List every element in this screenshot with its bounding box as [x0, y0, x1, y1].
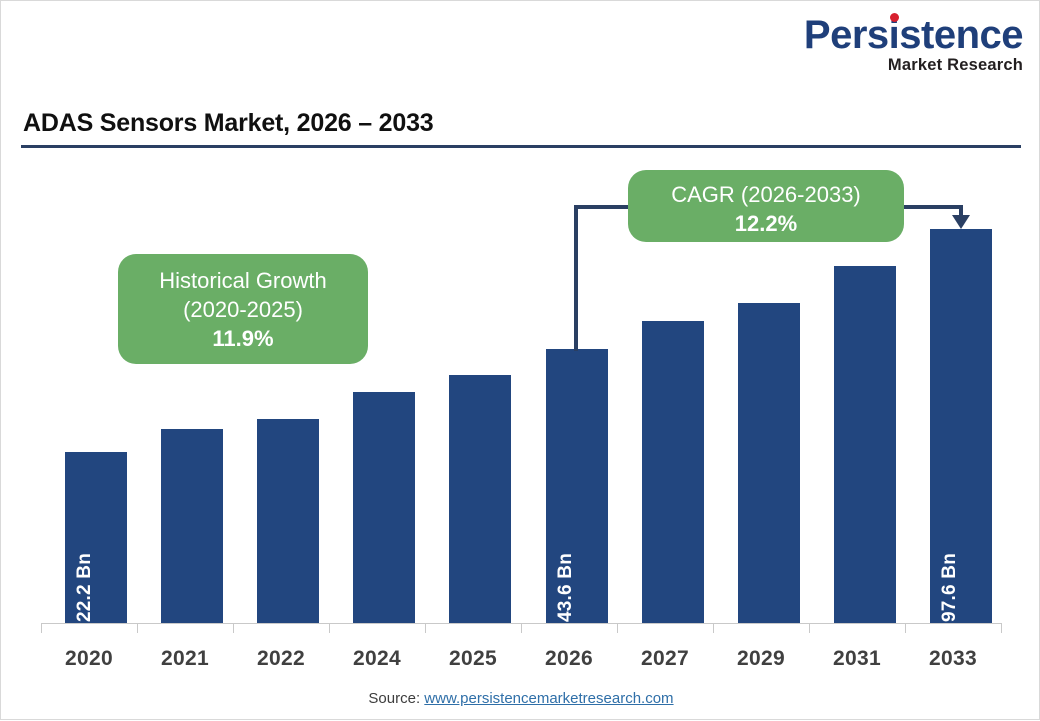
x-axis-label-2029: 2029 [713, 647, 809, 671]
x-axis-label-2026: 2026 [521, 647, 617, 671]
x-axis-tick [41, 623, 42, 633]
bar-2021 [161, 429, 223, 623]
source-prefix: Source: [368, 690, 424, 707]
x-axis-tick [617, 623, 618, 633]
bar-2024 [353, 392, 415, 623]
x-axis-tick [233, 623, 234, 633]
bar-2025 [449, 375, 511, 623]
x-axis-label-2025: 2025 [425, 647, 521, 671]
x-axis-label-2031: 2031 [809, 647, 905, 671]
historical-growth-period: (2020-2025) [118, 295, 368, 324]
x-axis-tick [713, 623, 714, 633]
x-axis-label-2024: 2024 [329, 647, 425, 671]
x-axis-tick [521, 623, 522, 633]
chart-canvas: Persistence Market Research ADAS Sensors… [0, 0, 1040, 720]
x-axis-label-2020: 2020 [41, 647, 137, 671]
x-axis-tick [1001, 623, 1002, 633]
cagr-connector-vertical-left [574, 205, 578, 351]
x-axis-label-2033: 2033 [905, 647, 1001, 671]
x-axis-label-2027: 2027 [617, 647, 713, 671]
x-axis-tick [329, 623, 330, 633]
cagr-connector-arrow-icon [952, 215, 970, 229]
x-axis-label-2022: 2022 [233, 647, 329, 671]
cagr-title: CAGR (2026-2033) [628, 180, 904, 209]
historical-growth-title: Historical Growth [118, 266, 368, 295]
x-axis-label-2021: 2021 [137, 647, 233, 671]
cagr-callout: CAGR (2026-2033) 12.2% [628, 170, 904, 242]
bar-2031 [834, 266, 896, 623]
historical-growth-value: 11.9% [118, 324, 368, 353]
bar-2026: US$ 43.6 Bn [546, 349, 608, 623]
x-axis-tick [137, 623, 138, 633]
bar-2027 [642, 321, 704, 623]
historical-growth-callout: Historical Growth (2020-2025) 11.9% [118, 254, 368, 364]
bar-2022 [257, 419, 319, 623]
x-axis-tick [905, 623, 906, 633]
source-line: Source: www.persistencemarketresearch.co… [1, 690, 1040, 707]
source-link[interactable]: www.persistencemarketresearch.com [424, 690, 673, 707]
bar-2029 [738, 303, 800, 623]
x-axis-tick [425, 623, 426, 633]
x-axis-tick [809, 623, 810, 633]
bar-2020: US$ 22.2 Bn [65, 452, 127, 623]
cagr-value: 12.2% [628, 209, 904, 238]
bar-2033: US$ 97.6 Bn [930, 229, 992, 623]
